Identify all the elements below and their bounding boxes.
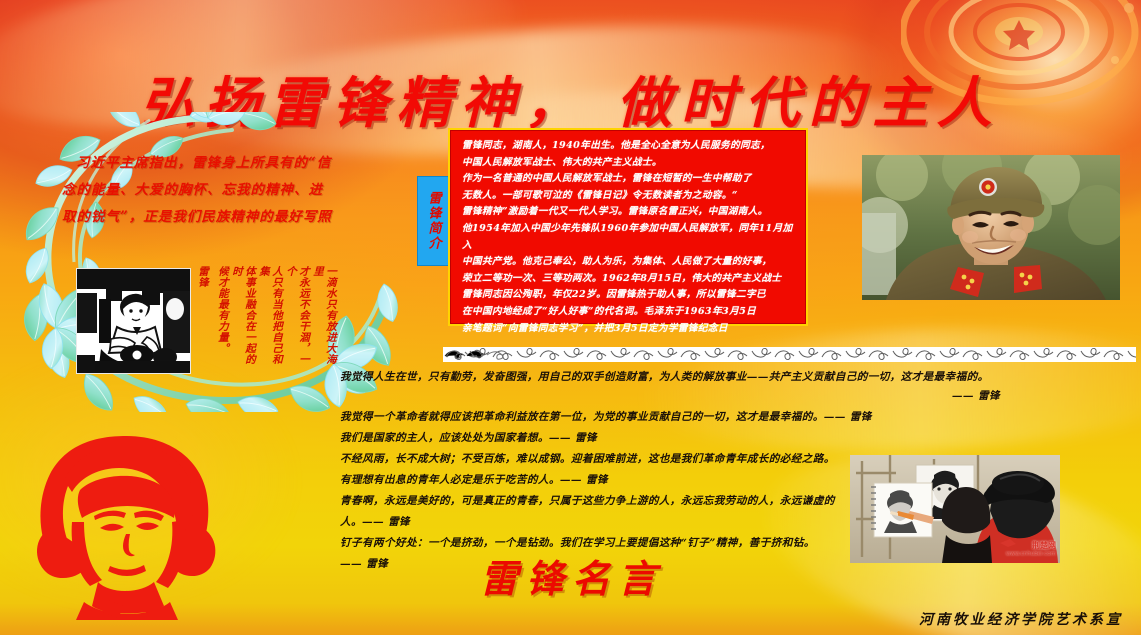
intro-paragraph: 习近平主席指出，雷锋身上所具有的“信念的能量、大爱的胸怀、忘我的精神、进取的锐气… [62,150,337,231]
bio-line: 雷锋同志，湖南人，1940年出生。他是全心全意为人民服务的同志， [462,138,796,155]
vertical-quote-block: 一滴水只有放进大海里 才永远不会干涸，一个 人只有当他把自己和集 体事业融合在一… [196,266,337,366]
poster-title: 弘扬雷锋精神， 做时代的主人 [0,58,1141,138]
poster-canvas: 弘扬雷锋精神， 做时代的主人 [0,0,1141,635]
bio-tab-text: 雷锋简介 [424,191,443,251]
bio-line: 荣立二等功一次、三等功两次。1962年8月15日，伟大的共产主义战士 [462,271,796,288]
bio-line: 无数人。一部可歌可泣的《雷锋日记》令无数读者为之动容。“ [462,188,796,205]
vertical-quote-column: 体事业融合在一起的时 [230,266,256,366]
photo-watermark: 荆楚网 www.cnhubei.com [1006,541,1056,559]
bio-line: 中国人民解放军战士、伟大的共产主义战士。 [462,155,796,172]
vertical-quote-signature: 雷锋 [196,266,209,366]
bio-line: 雷锋同志因公殉职，年仅22岁。因雷锋热于助人事，所以雷锋二字已 [462,287,796,304]
bio-tab-label: 雷锋简介 [417,176,449,266]
quote-attribution: —— 雷锋 [340,387,1140,406]
vertical-quote-column: 才永远不会干涸，一个 [284,266,310,366]
bio-line: 中国共产党。他克己奉公，助人为乐，为集体、人民做了大量的好事， [462,254,796,271]
watermark-url: www.cnhubei.com [1006,550,1056,559]
ribbon-divider-icon [443,347,1136,362]
quote-line: 我觉得一个革命者就得应该把革命利益放在第一位，为党的事业贡献自己的一切，这才是最… [340,408,1140,427]
classroom-drawing-photo: 荆楚网 www.cnhubei.com [850,455,1060,563]
lei-feng-portrait-photo [862,155,1120,300]
vertical-quote-column: 人只有当他把自己和集 [257,266,283,366]
bio-line: 亲笔题词“向雷锋同志学习”，并把3月5日定为学雷锋纪念日 [462,321,796,338]
bio-line: 他1954年加入中国少年先锋队1960年参加中国人民解放军，同年11月加入 [462,221,796,254]
biography-box: 雷锋同志，湖南人，1940年出生。他是全心全意为人民服务的同志， 中国人民解放军… [448,128,808,326]
watermark-main: 荆楚网 [1032,541,1056,550]
bio-line: 作为一名普通的中国人民解放军战士，雷锋在短暂的一生中帮助了 [462,171,796,188]
quote-line: 我觉得人生在世，只有勤劳，发奋图强，用自己的双手创造财富，为人类的解放事业——共… [340,368,1140,387]
poster-footer: 河南牧业经济学院艺术系宣 [919,609,1123,629]
section-title-quotes: 雷锋名言 [480,548,664,603]
bw-illustration-photo [76,268,191,374]
quote-line: 我们是国家的主人，应该处处为国家着想。—— 雷锋 [340,429,1140,448]
vertical-quote-column: 候才能最有力量。 [216,266,229,366]
lei-feng-papercut-portrait [28,430,224,620]
vertical-quote-column: 一滴水只有放进大海里 [311,266,337,366]
bio-line: 在中国内地经成了“好人好事”的代名词。毛泽东于1963年3月5日 [462,304,796,321]
bio-line: 雷锋精神”激励着一代又一代人学习。雷锋原名雷正兴，中国湖南人。 [462,204,796,221]
